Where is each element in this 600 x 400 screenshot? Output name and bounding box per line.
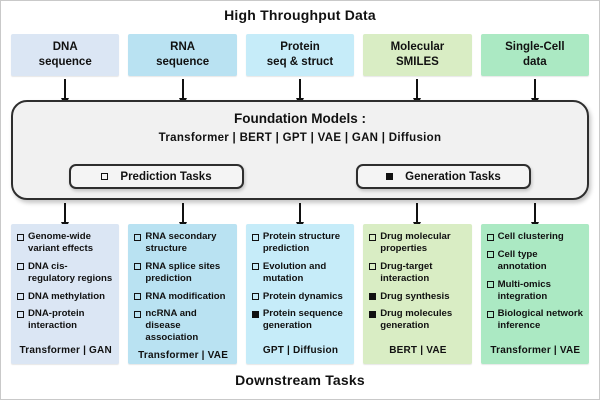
foundation-task-buttons: Prediction TasksGeneration Tasks (13, 164, 587, 189)
foundation-task-button[interactable]: Prediction Tasks (69, 164, 244, 189)
data-source-box[interactable]: DNAsequence (11, 34, 119, 76)
foundation-models-title: Foundation Models : (13, 111, 587, 126)
hollow-square-icon (369, 263, 376, 270)
hollow-square-icon (487, 281, 494, 288)
data-source-label-line1: Single-Cell (505, 40, 564, 55)
data-source-label-line2: SMILES (396, 55, 439, 70)
task-item[interactable]: Protein dynamics (252, 291, 349, 303)
foundation-task-button[interactable]: Generation Tasks (356, 164, 531, 189)
arrow-cell (363, 202, 471, 224)
task-column-models: Transformer | VAE (487, 345, 584, 358)
arrow-cell (128, 202, 236, 224)
hollow-square-icon (252, 234, 259, 241)
task-item[interactable]: Evolution and mutation (252, 261, 349, 285)
task-item[interactable]: RNA secondary structure (134, 231, 231, 255)
filled-square-icon (252, 311, 259, 318)
arrow-cell (11, 78, 119, 100)
hollow-square-icon (17, 234, 24, 241)
downstream-task-column: Protein structure predictionEvolution an… (246, 224, 354, 364)
hollow-square-icon (134, 311, 141, 318)
hollow-square-icon (134, 263, 141, 270)
arrow-cell (128, 78, 236, 100)
hollow-square-icon (17, 293, 24, 300)
task-column-models: GPT | Diffusion (252, 345, 349, 358)
page-title-bottom: Downstream Tasks (0, 372, 600, 388)
task-item-label: Protein structure prediction (263, 231, 349, 255)
task-item[interactable]: Protein sequence generation (252, 308, 349, 332)
down-arrow-icon (182, 203, 184, 223)
down-arrow-icon (299, 203, 301, 223)
hollow-square-icon (487, 311, 494, 318)
data-source-box[interactable]: MolecularSMILES (363, 34, 471, 76)
filled-square-icon (369, 311, 376, 318)
hollow-square-icon (252, 263, 259, 270)
arrow-cell (481, 78, 589, 100)
task-column-models: Transformer | GAN (17, 345, 114, 358)
arrow-cell (11, 202, 119, 224)
data-source-row: DNAsequenceRNAsequenceProteinseq & struc… (11, 34, 589, 76)
down-arrow-icon (416, 79, 418, 99)
task-item[interactable]: Cell type annotation (487, 249, 584, 273)
task-item-label: RNA modification (145, 291, 225, 303)
data-source-label-line1: Protein (280, 40, 320, 55)
hollow-square-icon (252, 293, 259, 300)
downstream-task-column: Drug molecular propertiesDrug-target int… (363, 224, 471, 364)
hollow-square-icon (101, 173, 108, 180)
hollow-square-icon (134, 234, 141, 241)
data-source-label-line2: seq & struct (267, 55, 333, 70)
task-item-label: ncRNA and disease association (145, 308, 231, 344)
task-item-label: Drug-target interaction (380, 261, 466, 285)
data-source-box[interactable]: Single-Celldata (481, 34, 589, 76)
task-column-models: BERT | VAE (369, 345, 466, 358)
task-item[interactable]: DNA cis-regulatory regions (17, 261, 114, 285)
task-item-label: Drug molecules generation (380, 308, 466, 332)
task-item[interactable]: Drug synthesis (369, 291, 466, 303)
downstream-task-column: RNA secondary structureRNA splice sites … (128, 224, 236, 364)
task-item-label: Drug synthesis (380, 291, 449, 303)
task-item[interactable]: DNA-protein interaction (17, 308, 114, 332)
data-source-label-line2: sequence (39, 55, 92, 70)
data-source-box[interactable]: Proteinseq & struct (246, 34, 354, 76)
task-item[interactable]: RNA modification (134, 291, 231, 303)
arrow-cell (481, 202, 589, 224)
hollow-square-icon (369, 234, 376, 241)
arrow-cell (363, 78, 471, 100)
data-source-label-line1: RNA (170, 40, 195, 55)
arrow-cell (246, 202, 354, 224)
task-item[interactable]: ncRNA and disease association (134, 308, 231, 344)
down-arrow-icon (182, 79, 184, 99)
downstream-task-column: Cell clusteringCell type annotationMulti… (481, 224, 589, 364)
data-source-label-line2: data (523, 55, 547, 70)
foundation-models-list: Transformer | BERT | GPT | VAE | GAN | D… (13, 132, 587, 144)
task-item[interactable]: Drug-target interaction (369, 261, 466, 285)
page-title-top: High Throughput Data (0, 7, 600, 23)
arrow-cell (246, 78, 354, 100)
task-item[interactable]: Cell clustering (487, 231, 584, 243)
hollow-square-icon (17, 263, 24, 270)
task-item[interactable]: Drug molecular properties (369, 231, 466, 255)
task-item[interactable]: Biological network inference (487, 308, 584, 332)
arrow-band-to-downstream (11, 202, 589, 224)
task-item[interactable]: Protein structure prediction (252, 231, 349, 255)
task-item-label: Genome-wide variant effects (28, 231, 114, 255)
task-item[interactable]: Drug molecules generation (369, 308, 466, 332)
foundation-task-button-label: Generation Tasks (405, 171, 501, 183)
downstream-task-column: Genome-wide variant effectsDNA cis-regul… (11, 224, 119, 364)
hollow-square-icon (487, 251, 494, 258)
task-item[interactable]: RNA splice sites prediction (134, 261, 231, 285)
arrow-band-to-foundation (11, 78, 589, 100)
task-item-label: Protein sequence generation (263, 308, 349, 332)
down-arrow-icon (299, 79, 301, 99)
task-item[interactable]: Multi-omics integration (487, 279, 584, 303)
down-arrow-icon (416, 203, 418, 223)
task-item-label: RNA splice sites prediction (145, 261, 231, 285)
hollow-square-icon (134, 293, 141, 300)
task-item-label: RNA secondary structure (145, 231, 231, 255)
data-source-label-line2: sequence (156, 55, 209, 70)
task-item-label: Multi-omics integration (498, 279, 584, 303)
task-item-label: Evolution and mutation (263, 261, 349, 285)
task-item-label: DNA methylation (28, 291, 105, 303)
downstream-task-row: Genome-wide variant effectsDNA cis-regul… (11, 224, 589, 364)
down-arrow-icon (534, 203, 536, 223)
hollow-square-icon (17, 311, 24, 318)
task-item-label: DNA cis-regulatory regions (28, 261, 114, 285)
down-arrow-icon (64, 203, 66, 223)
filled-square-icon (386, 173, 393, 180)
foundation-models-panel: Foundation Models : Transformer | BERT |… (11, 100, 589, 200)
task-item-label: Drug molecular properties (380, 231, 466, 255)
hollow-square-icon (487, 234, 494, 241)
task-item[interactable]: DNA methylation (17, 291, 114, 303)
down-arrow-icon (64, 79, 66, 99)
down-arrow-icon (534, 79, 536, 99)
filled-square-icon (369, 293, 376, 300)
task-item-label: Cell type annotation (498, 249, 584, 273)
data-source-label-line1: DNA (53, 40, 78, 55)
foundation-task-button-label: Prediction Tasks (120, 171, 211, 183)
task-column-models: Transformer | VAE (134, 350, 231, 363)
task-item[interactable]: Genome-wide variant effects (17, 231, 114, 255)
task-item-label: Cell clustering (498, 231, 564, 243)
data-source-box[interactable]: RNAsequence (128, 34, 236, 76)
task-item-label: Biological network inference (498, 308, 584, 332)
task-item-label: Protein dynamics (263, 291, 343, 303)
data-source-label-line1: Molecular (391, 40, 445, 55)
task-item-label: DNA-protein interaction (28, 308, 114, 332)
